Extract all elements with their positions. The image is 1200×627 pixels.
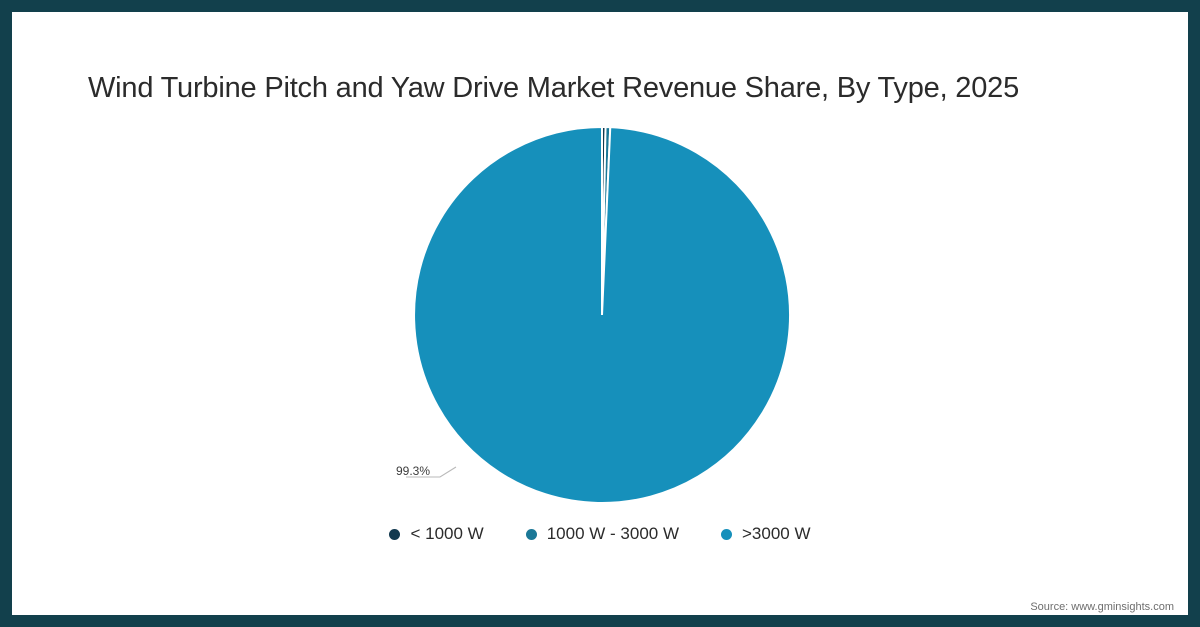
chart-screenshot: Wind Turbine Pitch and Yaw Drive Market … <box>0 0 1200 627</box>
pie-slice-group <box>414 127 790 503</box>
legend-label: >3000 W <box>742 524 811 544</box>
pie-slice[interactable] <box>414 127 790 503</box>
pie-slice-value-label: 99.3% <box>396 464 430 478</box>
frame-border-bottom <box>0 615 1200 627</box>
pie-svg <box>402 115 802 515</box>
source-attribution: Source: www.gminsights.com <box>1030 601 1174 613</box>
pie-chart <box>402 115 802 515</box>
legend-label: 1000 W - 3000 W <box>547 524 679 544</box>
legend-item[interactable]: < 1000 W <box>389 524 483 544</box>
legend-swatch-icon <box>389 529 400 540</box>
legend-swatch-icon <box>721 529 732 540</box>
legend-item[interactable]: 1000 W - 3000 W <box>526 524 679 544</box>
legend-item[interactable]: >3000 W <box>721 524 811 544</box>
chart-title: Wind Turbine Pitch and Yaw Drive Market … <box>88 68 1088 108</box>
frame-border-top <box>0 0 1200 12</box>
legend-swatch-icon <box>526 529 537 540</box>
chart-legend: < 1000 W1000 W - 3000 W>3000 W <box>0 524 1200 544</box>
legend-label: < 1000 W <box>410 524 483 544</box>
